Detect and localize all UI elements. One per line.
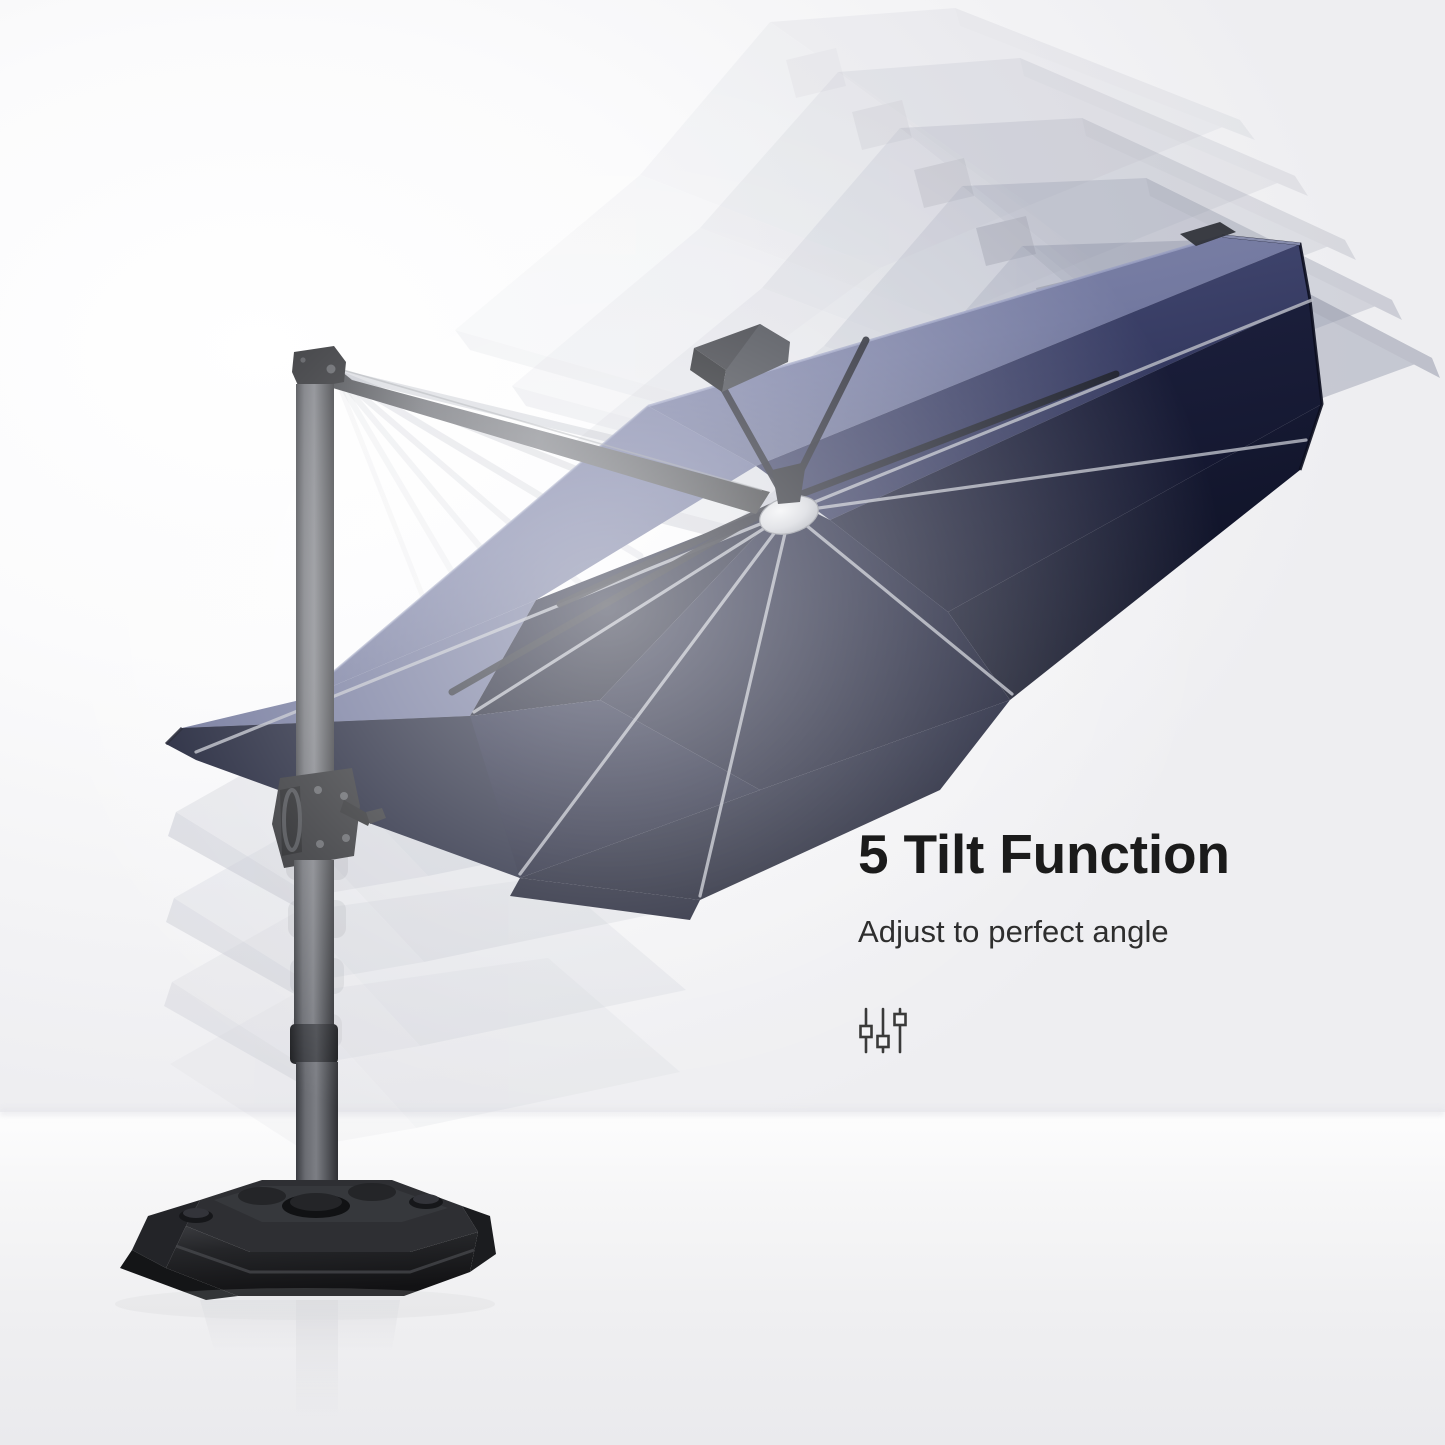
base-fill-cap-right-inner	[413, 1194, 439, 1204]
umbrella-illustration	[0, 0, 1445, 1445]
base-recess-left	[238, 1187, 286, 1205]
floor-reflection	[115, 1288, 495, 1420]
slider-handle-left	[861, 1026, 872, 1037]
feature-text-block: 5 Tilt Function Adjust to perfect angle	[858, 826, 1328, 950]
pole-cap-bolt	[327, 365, 336, 374]
umbrella-base	[120, 1180, 496, 1300]
slider-handle-right	[895, 1014, 906, 1025]
sliders-icon	[857, 1006, 909, 1056]
feature-headline: 5 Tilt Function	[858, 826, 1328, 882]
feature-subline: Adjust to perfect angle	[858, 882, 1328, 950]
base-recess-right	[348, 1183, 396, 1201]
base-pole-socket-inner	[290, 1193, 342, 1211]
pole-cap-bolt-2	[300, 357, 305, 362]
product-feature-image: 5 Tilt Function Adjust to perfect angle	[0, 0, 1445, 1445]
pole-collar	[290, 1024, 338, 1064]
pole-upper-segment	[296, 384, 334, 784]
base-fill-cap-left-inner	[183, 1208, 209, 1218]
slider-handle-middle	[878, 1036, 889, 1047]
pole-mid-segment	[294, 860, 334, 1042]
